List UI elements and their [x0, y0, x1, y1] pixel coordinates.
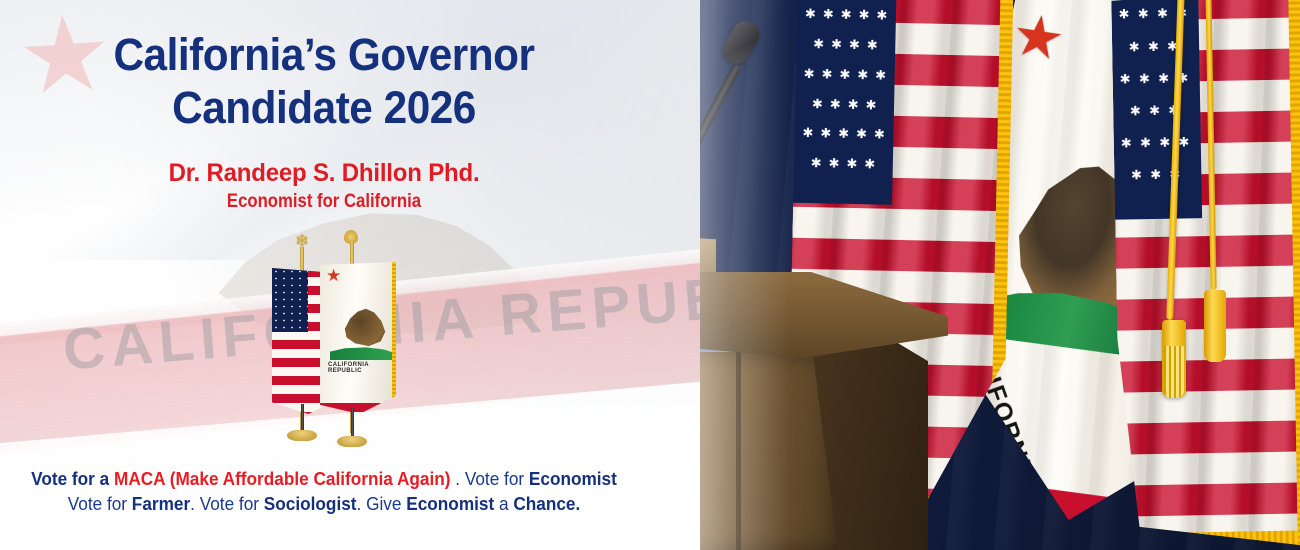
desk-ca-flag-fringe — [392, 262, 396, 414]
tagline-l1-part2: . Vote for — [450, 468, 528, 489]
us-flag-right: ✱ ✱ ✱ ✱ ✱ ✱ ✱ ✱ ✱ ✱ ✱ ✱ ✱ ✱ ✱ ✱ ✱ ✱ ✱ ✱ — [1111, 0, 1300, 550]
flag-gold-tassel-right — [1204, 290, 1226, 362]
campaign-banner: ★ CALIFORNIA REPUBLIC ✱ ✱ ✱ ✱ ✱ ✱ ✱ ✱ ✱ … — [0, 0, 1300, 550]
tagline-maca-slogan: MACA (Make Affordable California Again) — [114, 468, 450, 489]
california-flag-star-icon: ★ — [1009, 8, 1068, 67]
tagline-l2-economist: Economist — [406, 493, 494, 514]
desk-california-flag: ★ CALIFORNIA REPUBLIC — [320, 262, 396, 414]
page-title: California’s Governor Candidate 2026 — [19, 28, 628, 134]
desk-ca-flag-star-icon: ★ — [326, 268, 341, 283]
tagline-l2-part2: . Vote for — [190, 493, 264, 514]
flag-stand-base-left — [287, 430, 317, 441]
tagline-l2-sociologist: Sociologist — [264, 493, 357, 514]
flag-gold-tassel — [1162, 320, 1186, 398]
tagline-line-2: Vote for Farmer. Vote for Sociologist. G… — [23, 491, 626, 516]
desk-ca-flag-red-bar — [320, 403, 396, 412]
podium-column-edge — [736, 352, 741, 550]
us-flag-canton: ✱ ✱ ✱ ✱ ✱ ✱ ✱ ✱ ✱ ✱ ✱ ✱ ✱ ✱ ✱ ✱ ✱ ✱ ✱ ✱ — [1111, 0, 1202, 219]
tagline-l2-part3: . Give — [357, 493, 407, 514]
desk-ca-flag-grass — [330, 346, 392, 360]
desk-ca-flag-bear-icon — [342, 302, 388, 350]
flag-stand-rod-right — [351, 408, 354, 438]
desk-flag-pair: ❄ ★ CALIFORNIA REPUBLIC — [258, 232, 392, 456]
campaign-tagline: Vote for a MACA (Make Affordable Califor… — [23, 466, 626, 516]
desk-ca-flag-text: CALIFORNIA REPUBLIC — [328, 362, 396, 374]
candidate-subtitle: Economist for California — [39, 190, 609, 214]
tagline-line-1: Vote for a MACA (Make Affordable Califor… — [23, 466, 626, 491]
desk-us-flag-canton — [272, 268, 308, 332]
tagline-l1-economist: Economist — [529, 468, 617, 489]
tagline-l2-farmer: Farmer — [132, 493, 190, 514]
tagline-l1-part1: Vote for a — [31, 468, 114, 489]
left-content-panel: ★ CALIFORNIA REPUBLIC ❄ ★ CALIFORNIA REP… — [0, 0, 700, 550]
headline-line-2: Candidate 2026 — [19, 81, 628, 134]
headline-line-1: California’s Governor — [19, 28, 628, 81]
tagline-l2-part4: a — [494, 493, 513, 514]
flag-stand-base-right — [337, 436, 367, 447]
us-flag-canton: ✱ ✱ ✱ ✱ ✱ ✱ ✱ ✱ ✱ ✱ ✱ ✱ ✱ ✱ ✱ ✱ ✱ ✱ ✱ ✱ — [793, 0, 897, 205]
tagline-l2-part1: Vote for — [68, 493, 132, 514]
tagline-l2-chance: Chance. — [513, 493, 580, 514]
candidate-name: Dr. Randeep S. Dhillon Phd. — [13, 158, 635, 188]
